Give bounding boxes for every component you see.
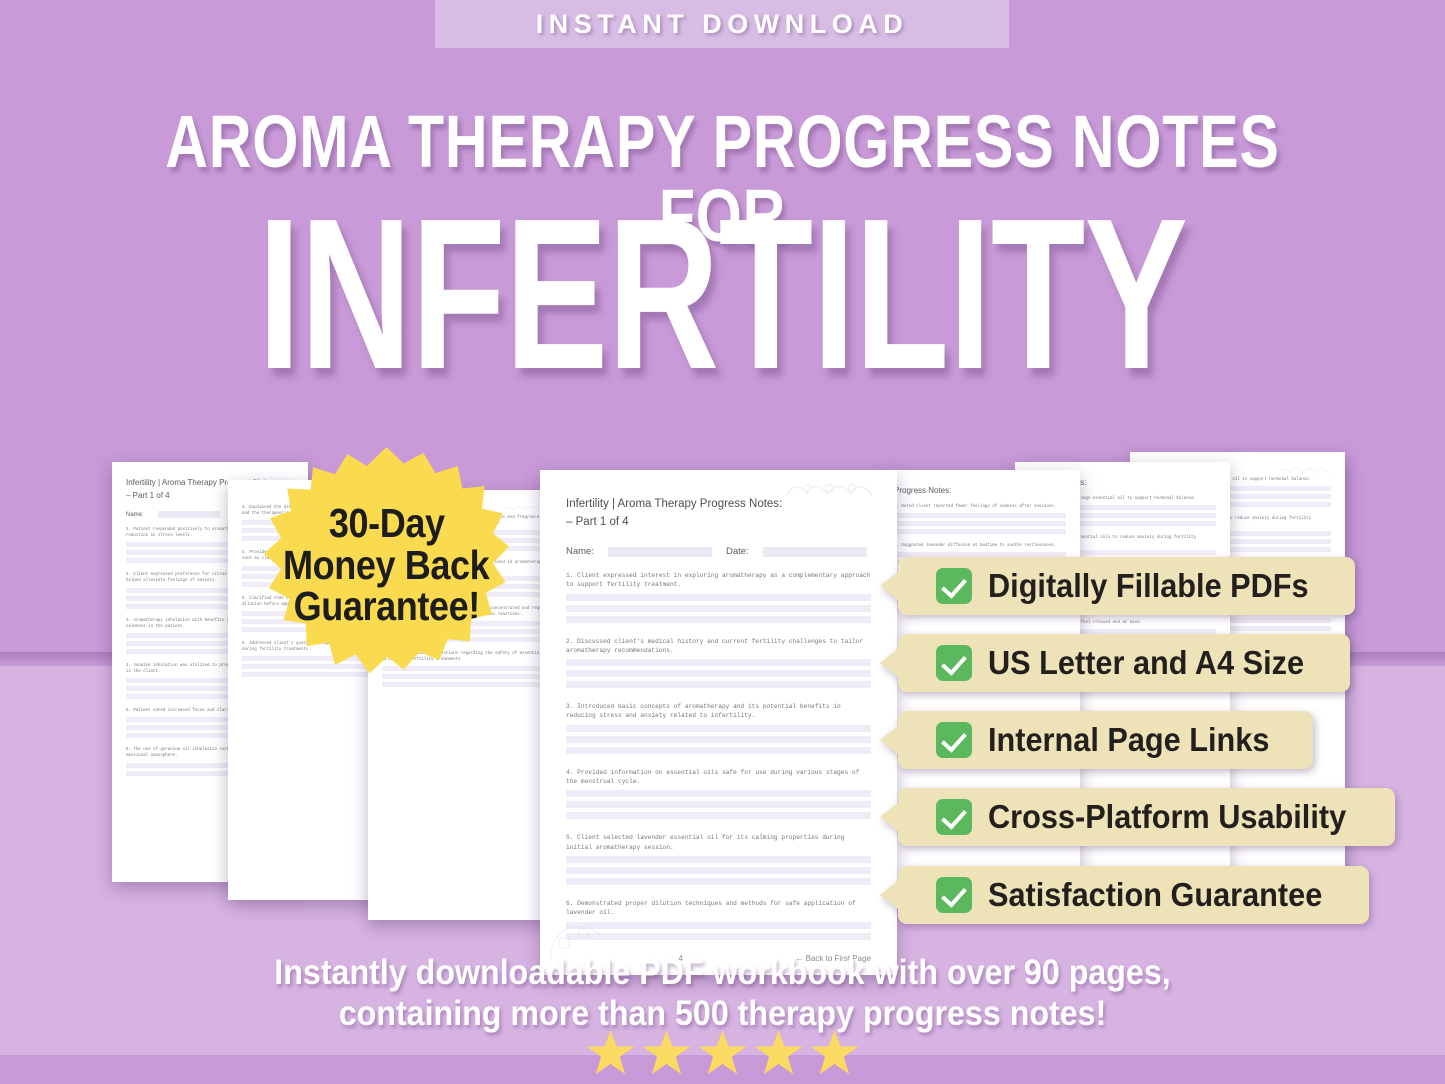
doc-item: 5. Suggested lavender diffusion at bedti…	[894, 543, 1066, 549]
check-icon	[936, 645, 972, 681]
doc-item: 1. Client expressed interest in explorin…	[566, 571, 871, 590]
check-icon	[936, 568, 972, 604]
check-icon	[936, 799, 972, 835]
doc-item: 3. Introduced basic concepts of aromathe…	[566, 702, 871, 721]
doc-item: 6. Demonstrated proper dilution techniqu…	[566, 899, 871, 918]
guarantee-line-1: 30-Day	[329, 503, 445, 545]
answer-lines[interactable]	[382, 666, 550, 687]
answer-lines[interactable]	[566, 725, 871, 754]
doc-title: Progress Notes:	[894, 486, 1066, 495]
star-icon	[698, 1030, 747, 1077]
document-page-main: Infertility | Aroma Therapy Progress Not…	[540, 470, 897, 975]
feature-label: Cross-Platform Usability	[988, 798, 1346, 836]
guarantee-line-2: Money Back	[283, 545, 489, 587]
answer-lines[interactable]	[566, 856, 871, 885]
feature-badge-satisfaction-guarantee: Satisfaction Guarantee	[898, 866, 1369, 924]
feature-badge-us-letter-and-a4-size: US Letter and A4 Size	[898, 634, 1350, 692]
feature-label: US Letter and A4 Size	[988, 644, 1304, 682]
floral-ornament-icon	[783, 476, 876, 502]
feature-label: Satisfaction Guarantee	[988, 876, 1322, 914]
star-rating	[0, 1030, 1445, 1077]
answer-lines[interactable]	[566, 594, 871, 623]
doc-subtitle: – Part 1 of 4	[566, 516, 871, 528]
feature-badge-digitally-fillable-pdfs: Digitally Fillable PDFs	[898, 557, 1355, 615]
feature-badge-cross-platform-usability: Cross-Platform Usability	[898, 788, 1395, 846]
doc-item: 4. Noted client reported fewer feelings …	[894, 504, 1066, 510]
feature-label: Internal Page Links	[988, 721, 1269, 759]
tagline: Instantly downloadable PDF workbook with…	[58, 952, 1387, 1035]
page-title: INFERTILITY	[202, 192, 1242, 396]
feature-badge-internal-page-links: Internal Page Links	[898, 711, 1313, 769]
name-label: Name:	[566, 546, 594, 557]
floral-ornament-icon	[1276, 457, 1332, 483]
name-date-field-row: Name: Date:	[566, 546, 871, 557]
doc-item: 4. Provided information on essential oil…	[566, 768, 871, 787]
star-icon	[642, 1030, 691, 1077]
guarantee-line-3: Guarantee!	[293, 586, 479, 628]
instant-download-label: INSTANT DOWNLOAD	[536, 9, 908, 40]
star-icon	[810, 1030, 859, 1077]
date-input[interactable]	[763, 547, 867, 557]
answer-lines[interactable]	[566, 659, 871, 688]
instant-download-banner: INSTANT DOWNLOAD	[435, 0, 1009, 48]
name-label: Name:	[126, 512, 144, 518]
star-icon	[586, 1030, 635, 1077]
answer-lines[interactable]	[894, 513, 1066, 534]
doc-item: 5. Client selected lavender essential oi…	[566, 833, 871, 852]
check-icon	[936, 877, 972, 913]
check-icon	[936, 722, 972, 758]
name-input[interactable]	[608, 547, 712, 557]
name-input[interactable]	[158, 511, 220, 518]
star-icon	[754, 1030, 803, 1077]
tagline-line-2: containing more than 500 therapy progres…	[58, 993, 1387, 1034]
answer-lines[interactable]	[566, 922, 871, 940]
tagline-line-1: Instantly downloadable PDF workbook with…	[58, 952, 1387, 993]
feature-label: Digitally Fillable PDFs	[988, 567, 1309, 605]
date-label: Date:	[726, 546, 749, 557]
answer-lines[interactable]	[566, 790, 871, 819]
doc-item: 2. Discussed client's medical history an…	[566, 637, 871, 656]
